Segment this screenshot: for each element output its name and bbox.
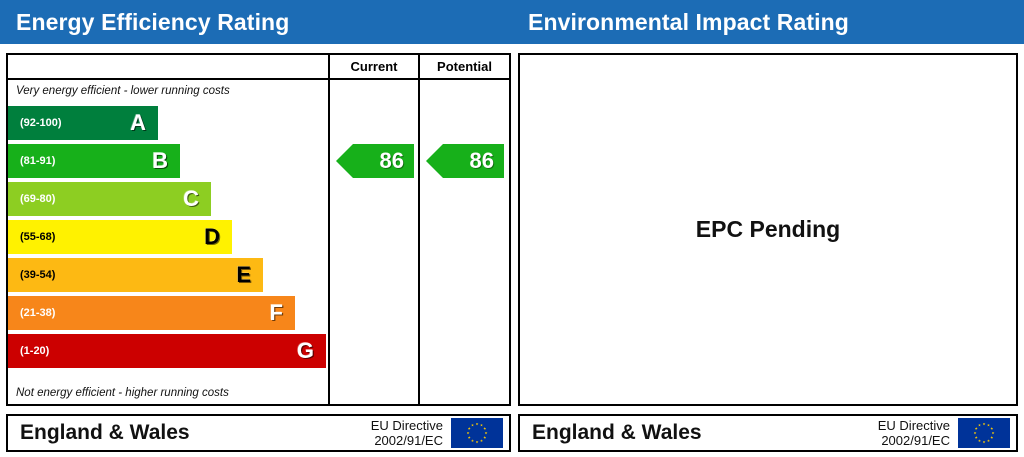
eu-flag-star	[480, 439, 483, 442]
epc-pending-status: EPC Pending	[696, 216, 840, 243]
eu-flag-star	[483, 427, 486, 430]
environmental-impact-header: Environmental Impact Rating	[512, 0, 1024, 44]
current-rating-arrow: 86	[336, 144, 414, 178]
band-letter-f: F	[270, 300, 283, 326]
rating-band-a: (92-100)A	[8, 106, 158, 140]
band-letter-g: G	[297, 338, 314, 364]
eu-directive-line2: 2002/91/EC	[371, 433, 443, 448]
energy-efficiency-header: Energy Efficiency Rating	[0, 0, 512, 44]
current-rating-value: 86	[380, 148, 404, 174]
eu-flag-icon	[451, 418, 503, 448]
eu-flag-star	[483, 436, 486, 439]
eu-flag-star	[978, 439, 981, 442]
energy-efficiency-footer: England & Wales EU Directive 2002/91/EC	[6, 414, 511, 452]
eu-flag-star	[990, 436, 993, 439]
eu-directive-line1: EU Directive	[371, 418, 443, 433]
rating-band-e: (39-54)E	[8, 258, 263, 292]
eu-flag-star	[471, 439, 474, 442]
column-divider-2	[418, 80, 420, 404]
environmental-impact-footer: England & Wales EU Directive 2002/91/EC	[518, 414, 1018, 452]
eu-flag-star	[992, 432, 995, 435]
band-letter-a: A	[130, 110, 146, 136]
eu-flag-star	[471, 424, 474, 427]
band-letter-e: E	[236, 262, 251, 288]
band-letter-d: D	[204, 224, 220, 250]
eu-flag-star	[987, 424, 990, 427]
energy-efficiency-panel: Energy Efficiency Rating Current Potenti…	[0, 0, 512, 457]
rating-band-f: (21-38)F	[8, 296, 295, 330]
rating-band-g: (1-20)G	[8, 334, 326, 368]
band-letter-b: B	[152, 148, 168, 174]
eu-directive-line1: EU Directive	[878, 418, 950, 433]
column-header-potential: Potential	[418, 55, 509, 78]
column-divider-1	[328, 80, 330, 404]
eu-flag-star	[983, 441, 986, 444]
rating-band-b: (81-91)B	[8, 144, 180, 178]
efficiency-note-top: Very energy efficient - lower running co…	[16, 85, 230, 97]
environmental-impact-title: Environmental Impact Rating	[512, 9, 849, 36]
band-range-f: (21-38)	[8, 307, 55, 319]
band-range-e: (39-54)	[8, 269, 55, 281]
potential-rating-arrow: 86	[426, 144, 504, 178]
column-header-row: Current Potential	[8, 55, 509, 80]
epc-certificate: Energy Efficiency Rating Current Potenti…	[0, 0, 1024, 457]
eu-flag-star	[485, 432, 488, 435]
eu-directive-right: EU Directive 2002/91/EC	[878, 418, 958, 448]
band-range-c: (69-80)	[8, 193, 55, 205]
band-range-d: (55-68)	[8, 231, 55, 243]
eu-flag-star	[987, 439, 990, 442]
band-range-a: (92-100)	[8, 117, 62, 129]
potential-rating-value: 86	[470, 148, 494, 174]
band-range-b: (81-91)	[8, 155, 55, 167]
eu-flag-star	[480, 424, 483, 427]
eu-flag-star	[975, 427, 978, 430]
eu-flag-star	[983, 423, 986, 426]
rating-band-stack: (92-100)A(81-91)B(69-80)C(55-68)D(39-54)…	[8, 106, 328, 372]
eu-flag-star	[468, 436, 471, 439]
eu-flag-star	[467, 432, 470, 435]
environmental-impact-chart: EPC Pending	[518, 53, 1018, 406]
rating-bands-area: Very energy efficient - lower running co…	[8, 80, 328, 404]
region-label-left: England & Wales	[8, 421, 371, 445]
eu-flag-icon	[958, 418, 1010, 448]
eu-flag-star	[476, 423, 479, 426]
eu-flag-star	[990, 427, 993, 430]
efficiency-note-bottom: Not energy efficient - higher running co…	[16, 387, 229, 399]
eu-flag-star	[476, 441, 479, 444]
region-label-right: England & Wales	[520, 421, 878, 445]
eu-flag-star	[978, 424, 981, 427]
eu-directive-left: EU Directive 2002/91/EC	[371, 418, 451, 448]
energy-efficiency-title: Energy Efficiency Rating	[0, 9, 289, 36]
eu-flag-star	[975, 436, 978, 439]
rating-band-d: (55-68)D	[8, 220, 232, 254]
band-range-g: (1-20)	[8, 345, 49, 357]
energy-efficiency-chart: Current Potential Very energy efficient …	[6, 53, 511, 406]
eu-directive-line2: 2002/91/EC	[878, 433, 950, 448]
band-letter-c: C	[183, 186, 199, 212]
eu-flag-star	[974, 432, 977, 435]
eu-flag-star	[468, 427, 471, 430]
column-header-current: Current	[328, 55, 418, 78]
rating-band-c: (69-80)C	[8, 182, 211, 216]
